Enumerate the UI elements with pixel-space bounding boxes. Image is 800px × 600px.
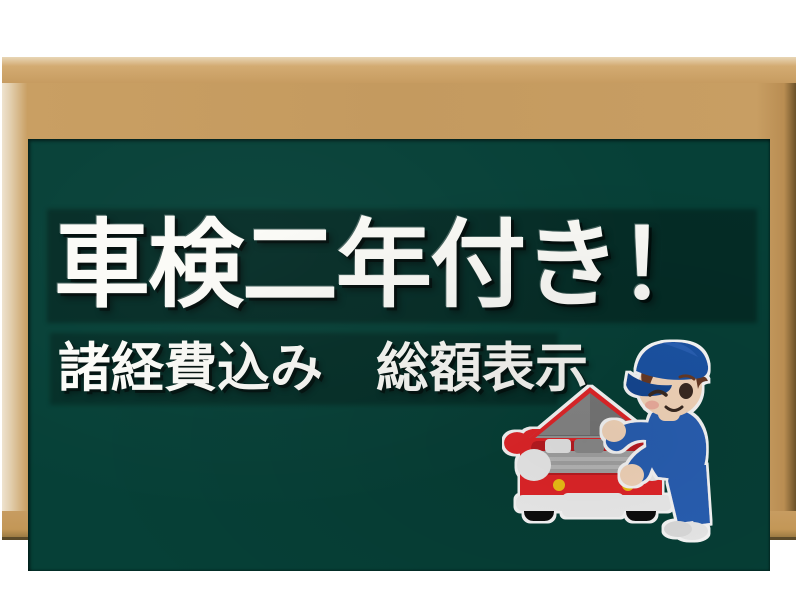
board-wooden-frame: 車検二年付き！ 諸経費込み 総額表示 [2,57,796,540]
headline-text: 車検二年付き！ [54,201,754,329]
subline-text: 諸経費込み 総額表示 [58,331,578,405]
chalkboard-surface: 車検二年付き！ 諸経費込み 総額表示 [28,139,770,571]
poster-canvas: 車検二年付き！ 諸経費込み 総額表示 [0,0,800,600]
mechanic-with-red-car-illustration [502,339,732,559]
frame-top-highlight [2,57,796,83]
